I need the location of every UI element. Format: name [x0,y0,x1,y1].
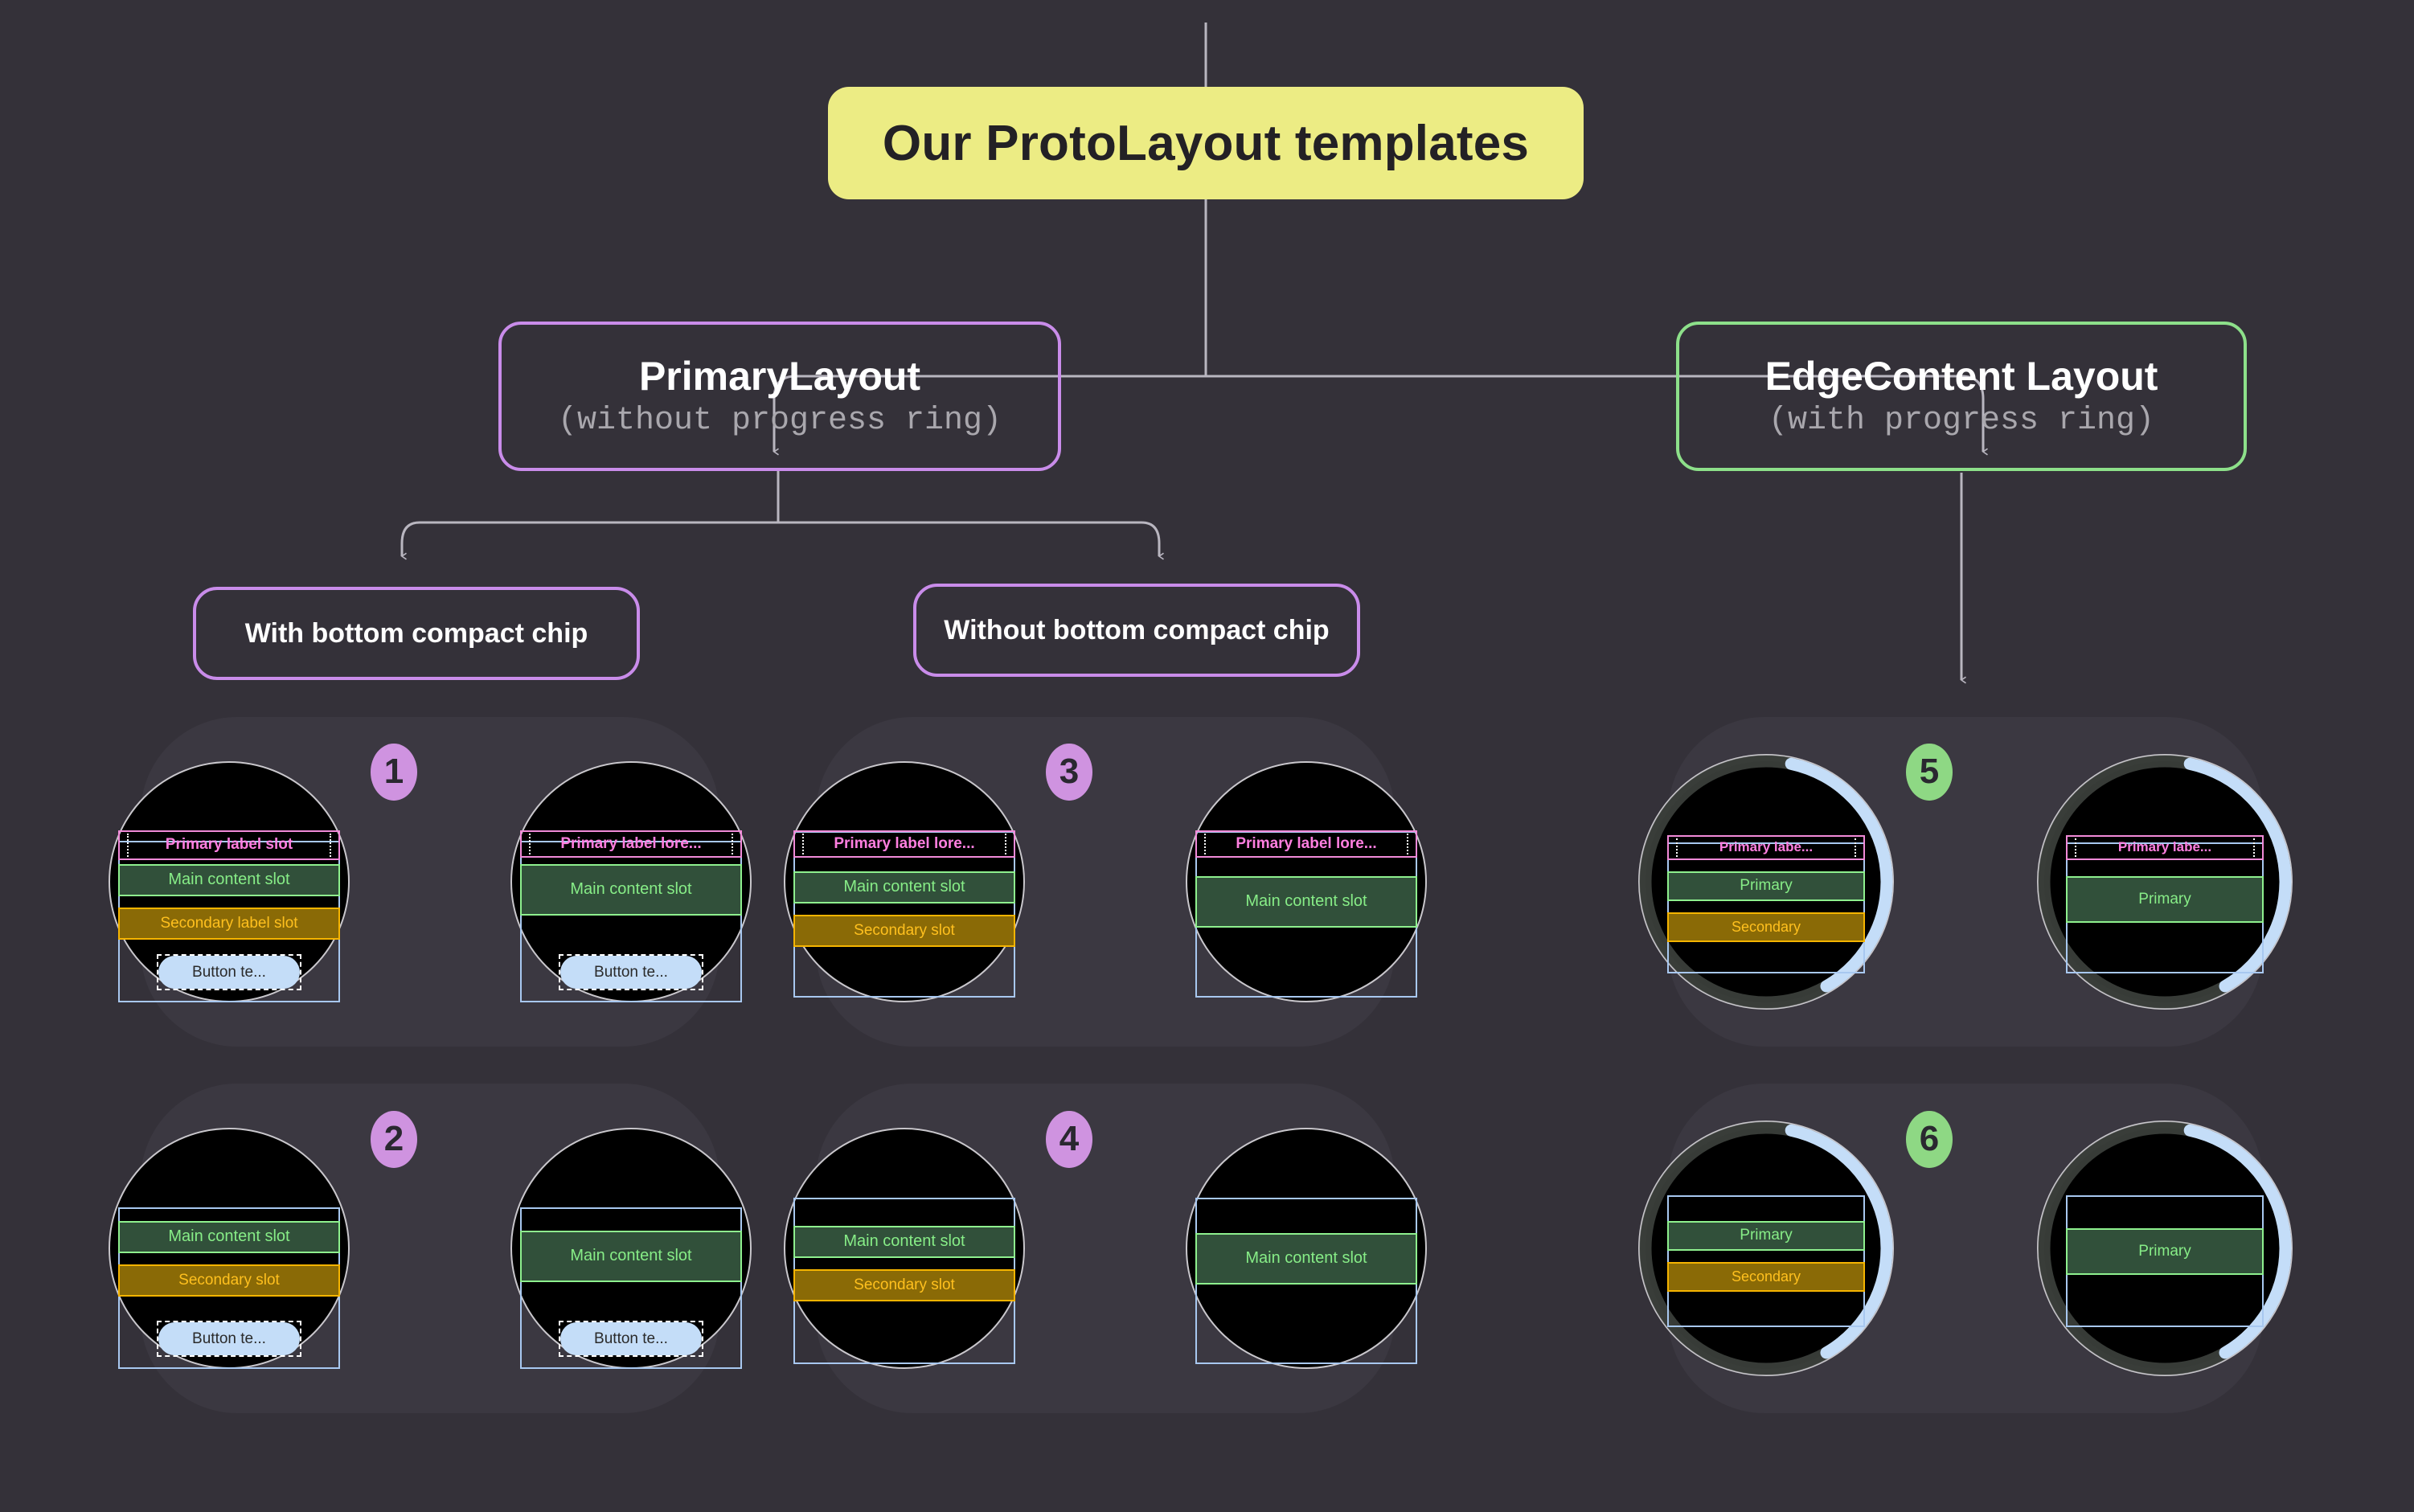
primary-guide-right [1855,838,1856,858]
card-badge-number-4: 4 [1059,1121,1079,1157]
slot-main-content-text: Main content slot [570,1247,691,1265]
watch-preview-c5a: Primary labe...PrimarySecondary [1646,761,1887,1002]
card-badge-number-1: 1 [384,754,404,789]
compact-chip-pill[interactable]: Button te... [158,956,300,989]
slot-main-content-text: Main content slot [843,1232,965,1251]
compact-chip-pill[interactable]: Button te... [560,1322,702,1355]
primary-guide-left [127,834,129,858]
card-badge-number-2: 2 [384,1121,404,1157]
slot-main-content-text: Primary [1740,877,1792,895]
card-badge-6: 6 [1906,1111,1953,1168]
watch-preview-c2a: Main content slotSecondary slotButton te… [109,1128,350,1369]
slot-primary-label: Primary label lore... [793,830,1015,858]
slot-secondary-label-text: Secondary slot [854,1276,955,1294]
card-badge-3: 3 [1046,744,1092,801]
branch-primary-layout[interactable]: PrimaryLayout (without progress ring) [498,322,1061,471]
chip-without-label: Without bottom compact chip [944,615,1329,646]
primary-guide-right [732,834,733,855]
primary-guide-left [2075,838,2076,858]
branch-primary-title: PrimaryLayout [639,354,920,399]
compact-chip-button[interactable]: Button te... [559,954,703,990]
slot-main-content-text: Main content slot [843,878,965,896]
watch-preview-c1a: Primary label slotMain content slotSecon… [109,761,350,1002]
watch-preview-c2b: Main content slotButton te... [510,1128,752,1369]
primary-guide-right [330,834,331,858]
slot-main-content-text: Main content slot [570,880,691,899]
compact-chip-button[interactable]: Button te... [559,1321,703,1357]
compact-chip-label: Button te... [192,1330,266,1348]
slot-secondary-label: Secondary label slot [118,908,340,940]
slot-secondary-label: Secondary [1667,912,1865,943]
branch-edge-content-layout[interactable]: EdgeContent Layout (with progress ring) [1676,322,2247,471]
diagram-canvas: Our ProtoLayout templates PrimaryLayout … [0,0,2414,1512]
slot-primary-label-text: Primary label slot [166,836,293,854]
slot-main-content: Main content slot [118,1221,340,1254]
watch-content-bounds [1667,842,1865,974]
branch-primary-subtitle: (without progress ring) [558,404,1002,439]
slot-secondary-label: Secondary slot [793,915,1015,948]
compact-chip-button[interactable]: Button te... [157,1321,301,1357]
watch-preview-c6b: Primary [2044,1128,2285,1369]
chip-with-label: With bottom compact chip [245,618,588,649]
slot-main-content: Main content slot [520,1231,742,1283]
slot-primary-label-text: Primary label lore... [560,835,701,853]
slot-main-content-text: Main content slot [1245,892,1367,911]
primary-guide-right [1005,834,1006,855]
slot-main-content: Primary [2066,876,2264,924]
slot-primary-label: Primary labe... [2066,835,2264,861]
slot-primary-label-text: Primary labe... [1719,839,1813,855]
compact-chip-label: Button te... [594,1330,668,1348]
watch-preview-c4a: Main content slotSecondary slot [784,1128,1025,1369]
slot-primary-label-text: Primary label lore... [1236,835,1376,853]
slot-main-content: Main content slot [793,871,1015,904]
card-badge-4: 4 [1046,1111,1092,1168]
slot-main-content: Main content slot [793,1226,1015,1259]
slot-main-content: Main content slot [1195,1233,1417,1285]
page-title: Our ProtoLayout templates [828,87,1584,199]
chip-without-bottom-compact-chip[interactable]: Without bottom compact chip [913,584,1360,677]
chip-with-bottom-compact-chip[interactable]: With bottom compact chip [193,587,640,680]
compact-chip-button[interactable]: Button te... [157,954,301,990]
watch-preview-c4b: Main content slot [1186,1128,1427,1369]
primary-guide-left [1204,834,1206,855]
slot-main-content-text: Primary [2138,1243,2191,1260]
slot-secondary-label-text: Secondary [1732,919,1801,936]
slot-main-content: Main content slot [118,864,340,897]
card-badge-number-6: 6 [1920,1121,1939,1157]
slot-main-content-text: Primary [2138,891,2191,908]
watch-preview-c1b: Primary label lore...Main content slotBu… [510,761,752,1002]
slot-main-content-text: Primary [1740,1227,1792,1244]
slot-secondary-label-text: Secondary label slot [160,915,297,932]
branch-edge-title: EdgeContent Layout [1765,354,2158,399]
watch-preview-c6a: PrimarySecondary [1646,1128,1887,1369]
compact-chip-pill[interactable]: Button te... [560,956,702,989]
slot-primary-label-text: Primary labe... [2118,839,2211,855]
slot-primary-label: Primary labe... [1667,835,1865,861]
slot-main-content: Primary [1667,871,1865,902]
slot-secondary-label-text: Secondary [1732,1268,1801,1285]
slot-main-content: Primary [2066,1228,2264,1276]
watch-preview-c3a: Primary label lore...Main content slotSe… [784,761,1025,1002]
slot-primary-label: Primary label lore... [1195,830,1417,858]
branch-edge-subtitle: (with progress ring) [1768,404,2154,439]
slot-main-content-text: Main content slot [168,1227,289,1246]
slot-main-content: Primary [1667,1221,1865,1252]
slot-main-content-text: Main content slot [1245,1249,1367,1268]
card-badge-number-3: 3 [1059,754,1079,789]
watch-preview-c5b: Primary labe...Primary [2044,761,2285,1002]
card-badge-5: 5 [1906,744,1953,801]
primary-guide-left [802,834,804,855]
slot-secondary-label: Secondary slot [118,1264,340,1297]
slot-primary-label-text: Primary label lore... [834,835,974,853]
slot-main-content: Main content slot [520,864,742,916]
slot-secondary-label-text: Secondary slot [854,922,955,940]
compact-chip-label: Button te... [192,964,266,981]
card-badge-1: 1 [371,744,417,801]
slot-primary-label: Primary label lore... [520,830,742,858]
primary-guide-right [2253,838,2255,858]
slot-main-content: Main content slot [1195,876,1417,928]
slot-secondary-label: Secondary [1667,1262,1865,1293]
slot-secondary-label-text: Secondary slot [178,1272,280,1289]
page-title-text: Our ProtoLayout templates [883,115,1529,172]
slot-primary-label: Primary label slot [118,830,340,861]
slot-secondary-label: Secondary slot [793,1269,1015,1302]
primary-guide-left [1676,838,1678,858]
compact-chip-pill[interactable]: Button te... [158,1322,300,1355]
primary-guide-right [1407,834,1408,855]
card-badge-2: 2 [371,1111,417,1168]
card-badge-number-5: 5 [1920,754,1939,789]
slot-main-content-text: Main content slot [168,871,289,889]
primary-guide-left [529,834,531,855]
compact-chip-label: Button te... [594,964,668,981]
watch-preview-c3b: Primary label lore...Main content slot [1186,761,1427,1002]
